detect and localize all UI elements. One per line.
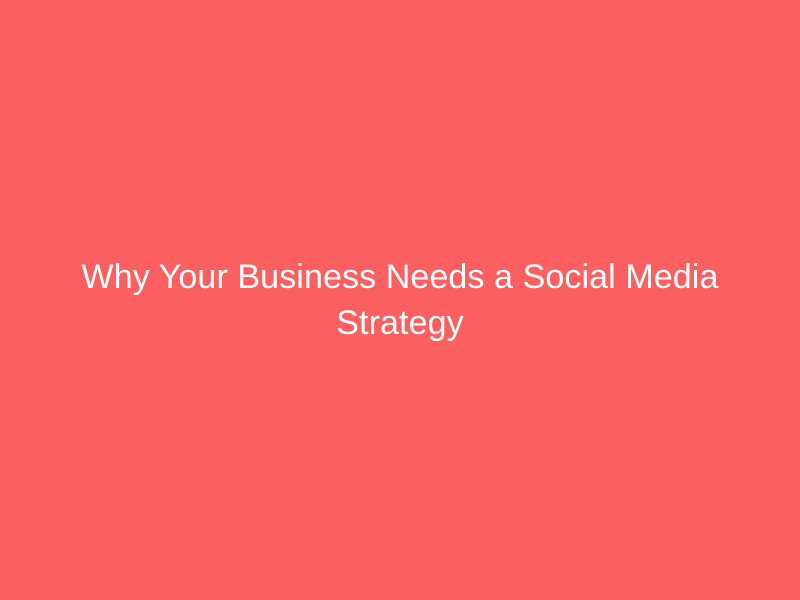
article-hero-banner: Why Your Business Needs a Social Media S… [0,0,800,600]
banner-title: Why Your Business Needs a Social Media S… [80,254,720,346]
banner-content: Why Your Business Needs a Social Media S… [80,254,720,346]
